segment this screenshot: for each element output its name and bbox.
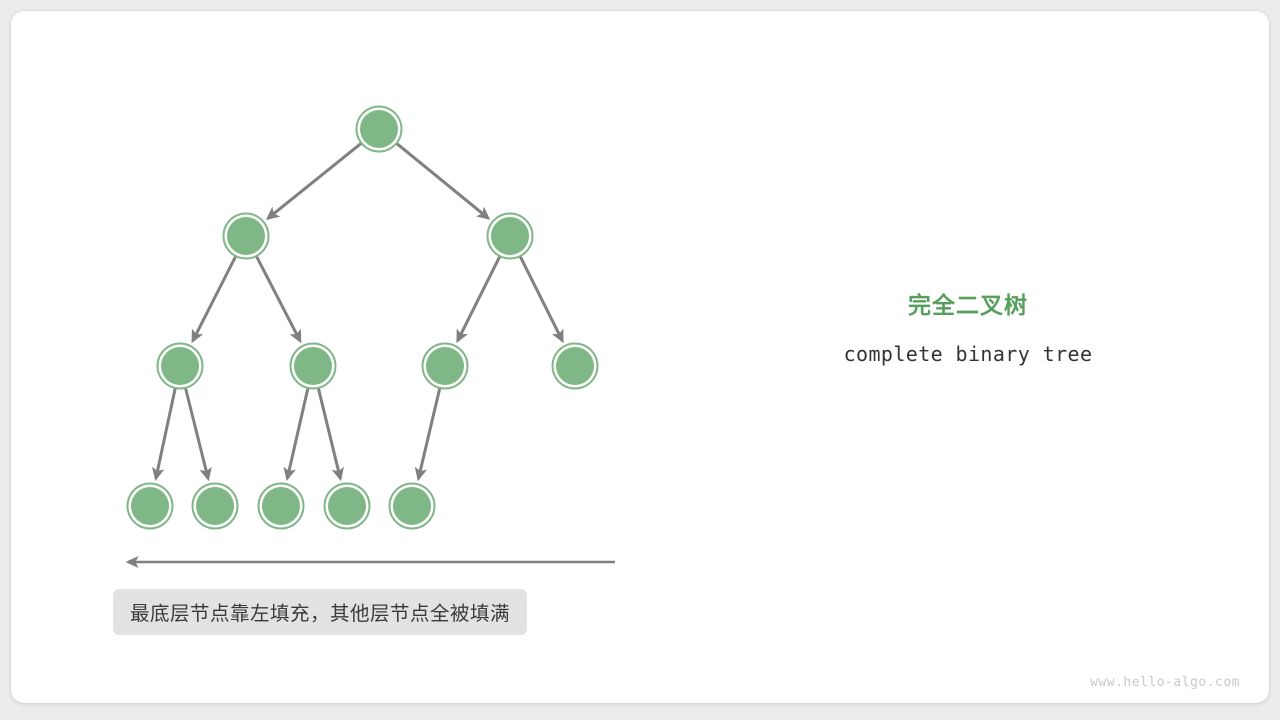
node-circle [227, 217, 265, 255]
node-circle [328, 487, 366, 525]
node-circle [262, 487, 300, 525]
tree-node [488, 214, 533, 259]
tree-node [193, 484, 238, 529]
tree-node [423, 344, 468, 389]
tree-node [553, 344, 598, 389]
diagram-canvas: 完全二叉树 complete binary tree 最底层节点靠左填充，其他层… [0, 0, 1280, 720]
tree-edge [318, 388, 340, 478]
tree-edge [397, 144, 489, 219]
node-circle [556, 347, 594, 385]
tree-edge [268, 143, 361, 218]
tree-node [259, 484, 304, 529]
tree-edge [193, 257, 236, 342]
caption-badge: 最底层节点靠左填充，其他层节点全被填满 [113, 589, 527, 635]
node-circle [360, 110, 398, 148]
tree-edge [186, 388, 209, 479]
node-circle [131, 487, 169, 525]
watermark: www.hello-algo.com [1090, 675, 1240, 690]
node-circle [393, 487, 431, 525]
tree-edge [287, 388, 308, 478]
tree-edge [458, 257, 500, 341]
tree-node [325, 484, 370, 529]
tree-edge [418, 388, 439, 478]
tree-edge [520, 257, 562, 341]
tree-node [390, 484, 435, 529]
diagram-title-cn: 完全二叉树 [793, 292, 1143, 320]
tree-node [128, 484, 173, 529]
tree-nodes [128, 107, 598, 529]
node-circle [161, 347, 199, 385]
tree-edge [156, 388, 175, 478]
node-circle [196, 487, 234, 525]
tree-node [357, 107, 402, 152]
node-circle [426, 347, 464, 385]
node-circle [491, 217, 529, 255]
tree-node [158, 344, 203, 389]
tree-node [224, 214, 269, 259]
diagram-title-en: complete binary tree [793, 342, 1143, 366]
legend-block: 完全二叉树 complete binary tree [793, 292, 1143, 366]
node-circle [294, 347, 332, 385]
tree-edges [156, 143, 563, 478]
tree-edge [257, 256, 301, 341]
tree-node [291, 344, 336, 389]
